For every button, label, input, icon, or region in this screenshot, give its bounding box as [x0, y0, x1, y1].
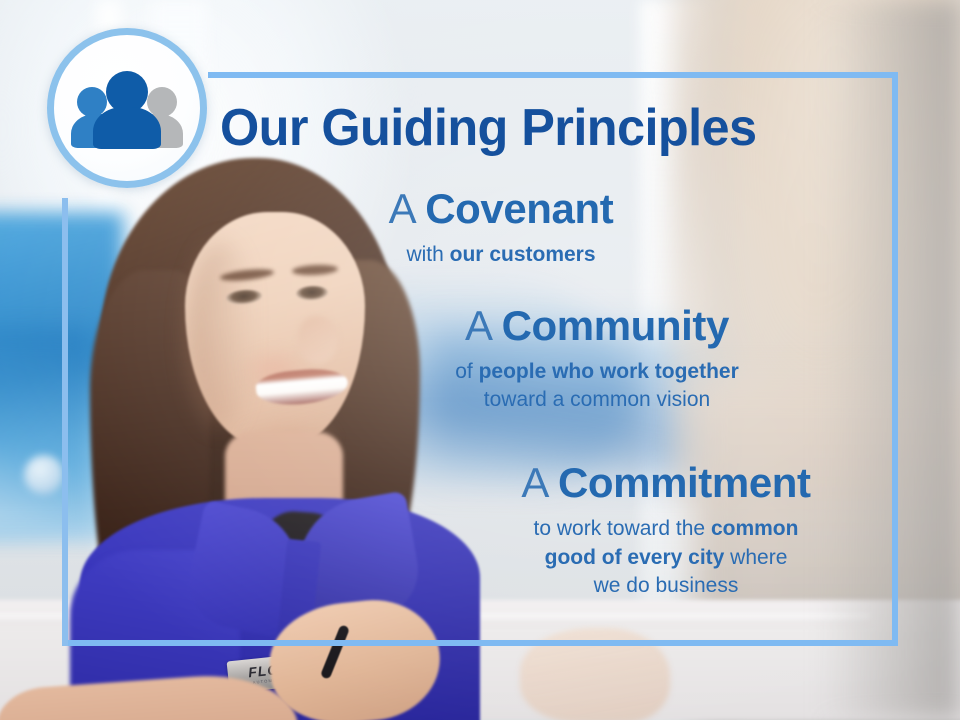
- principle-article: A: [465, 302, 490, 349]
- subtext-line: to work toward the common: [446, 515, 886, 544]
- subtext-run: where: [724, 546, 787, 569]
- subtext-run: we do business: [594, 574, 739, 597]
- principle-covenant: A Covenant with our customers: [336, 188, 666, 269]
- principle-heading: A Commitment: [446, 462, 886, 504]
- subtext-run: to work toward the: [534, 517, 711, 540]
- subtext-line: with our customers: [336, 241, 666, 269]
- principle-subtext: of people who work togethertoward a comm…: [372, 358, 822, 413]
- subtext-line: toward a common vision: [372, 386, 822, 414]
- people-badge: [47, 28, 207, 188]
- subtext-emphasis: our customers: [450, 243, 596, 266]
- principle-community: A Community of people who work togethert…: [372, 305, 822, 413]
- principle-heading: A Covenant: [336, 188, 666, 230]
- subtext-run: of: [455, 360, 478, 383]
- guiding-principles-graphic: FLOW AUTOMOTIVE FLOW Our Guiding: [0, 0, 960, 720]
- subtext-line: we do business: [446, 572, 886, 601]
- poster-emblem: [24, 455, 64, 495]
- subtext-emphasis: good of every city: [545, 546, 725, 569]
- principle-keyword: Covenant: [425, 185, 613, 232]
- principle-keyword: Commitment: [558, 459, 811, 506]
- subtext-line: good of every city where: [446, 544, 886, 573]
- subtext-emphasis: common: [711, 517, 799, 540]
- person-center-body-icon: [93, 107, 161, 149]
- principle-article: A: [521, 459, 546, 506]
- principle-keyword: Community: [502, 302, 729, 349]
- principle-subtext: with our customers: [336, 241, 666, 269]
- face-shadow: [186, 240, 256, 430]
- principle-commitment: A Commitment to work toward the commongo…: [446, 462, 886, 601]
- subtext-emphasis: people who work together: [479, 360, 739, 383]
- person-right-head-icon: [147, 87, 177, 117]
- page-title: Our Guiding Principles: [220, 98, 757, 158]
- principle-heading: A Community: [372, 305, 822, 347]
- subtext-run: with: [406, 243, 449, 266]
- principle-subtext: to work toward the commongood of every c…: [446, 515, 886, 601]
- principle-article: A: [389, 185, 414, 232]
- people-group-icon: [75, 71, 179, 145]
- nose: [298, 316, 338, 364]
- subtext-run: toward a common vision: [484, 388, 710, 411]
- customer-hand: [520, 628, 670, 720]
- subtext-line: of people who work together: [372, 358, 822, 386]
- right-shadow-wash: [820, 0, 960, 720]
